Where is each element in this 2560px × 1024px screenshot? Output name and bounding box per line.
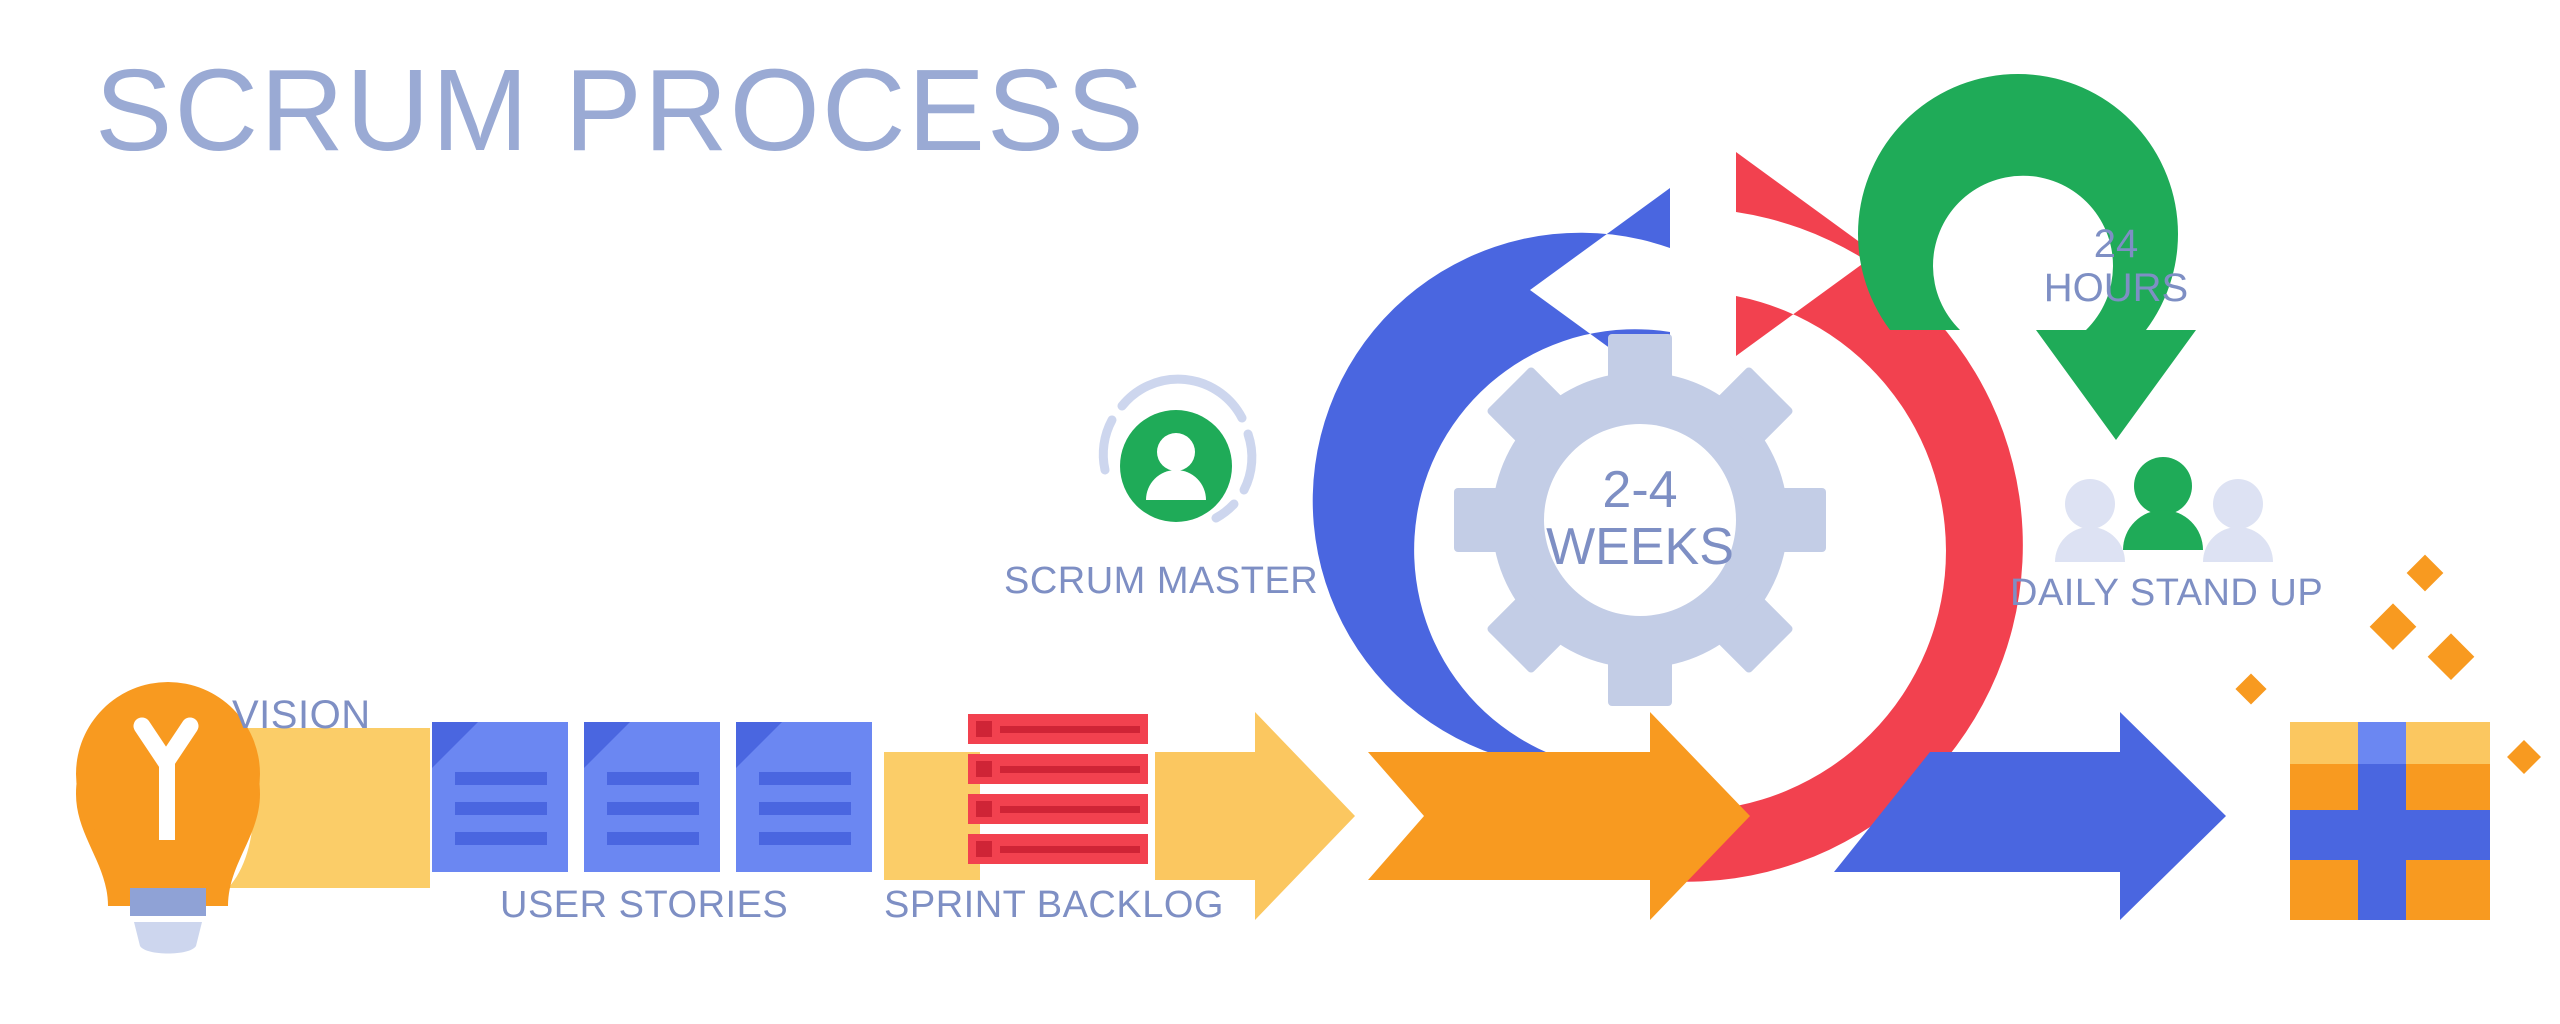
documents-icon [432,722,872,872]
document-item [736,722,872,872]
gift-box-icon [2290,722,2490,920]
backlog-row [968,834,1148,864]
three-people-icon [2055,457,2273,562]
sprint-duration-unit: WEEKS [1540,519,1740,576]
sparkle [2235,673,2266,704]
sparkle [2507,740,2541,774]
person-right [2203,479,2273,562]
sparkle [2428,633,2475,680]
standup-duration-unit: HOURS [1986,266,2246,310]
scrum-master-label: SCRUM MASTER [1004,560,1318,603]
vision-label: VISION [232,693,371,738]
document-item [584,722,720,872]
backlog-row [968,714,1148,744]
daily-standup-label: DAILY STAND UP [2010,572,2323,615]
backlog-row [968,794,1148,824]
sprint-duration-value: 2-4 [1540,462,1740,519]
sprint-backlog-label: SPRINT BACKLOG [884,884,1224,927]
sparkle [2407,555,2444,592]
sprint-duration: 2-4 WEEKS [1540,462,1740,576]
scrum-process-diagram [0,0,2560,1024]
document-item [432,722,568,872]
backlog-row [968,754,1148,784]
user-stories-label: USER STORIES [500,884,788,927]
standup-duration-value: 24 [1986,222,2246,266]
person-left [2055,479,2125,562]
arrow-sprint-chevron [1368,712,1750,920]
sparkle [2370,603,2417,650]
person-badge-icon [1103,379,1252,522]
infographic-canvas: SCRUM PROCESS [0,0,2560,1024]
person-center [2123,457,2203,550]
standup-duration: 24 HOURS [1986,222,2246,310]
arrow-stories-to-backlog [884,752,980,880]
backlog-list-icon [968,714,1148,864]
